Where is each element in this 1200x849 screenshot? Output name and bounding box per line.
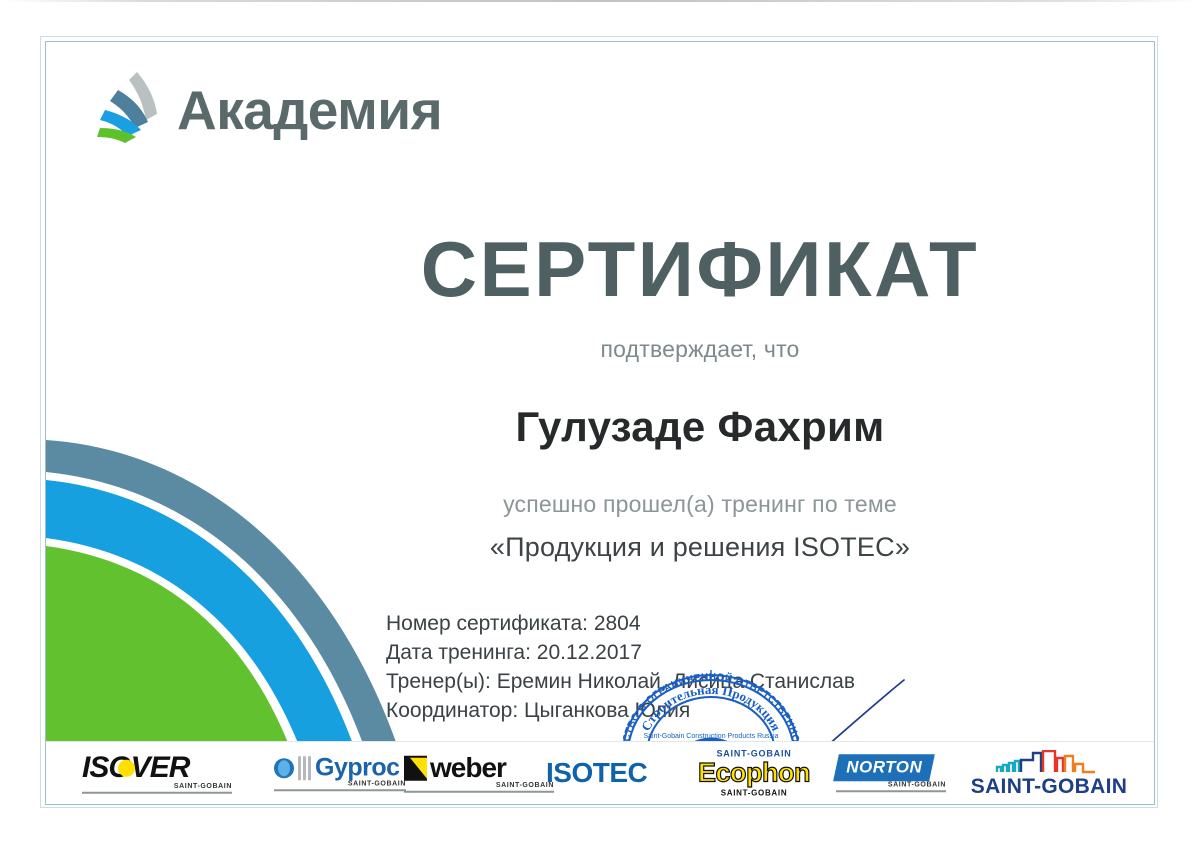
certificate-content: СЕРТИФИКАТ подтверждает, что Гулузаде Фа…	[246, 42, 1154, 563]
footer-logo-strip: ISOVER SAINT-GOBAIN Gyproc SAINT-GOBAIN	[46, 741, 1154, 804]
footer-logo-saint-gobain: SAINT-GOBAIN	[964, 744, 1134, 802]
weber-rule	[404, 791, 554, 793]
weber-saint-gobain-label: SAINT-GOBAIN	[404, 782, 554, 789]
isover-wordmark: ISOVER	[82, 753, 232, 783]
detail-trainers: Тренер(ы): Еремин Николай, Лисица Станис…	[386, 667, 855, 696]
norton-rule	[836, 790, 946, 792]
norton-wordmark: NORTON	[846, 758, 922, 775]
detail-certificate-number: Номер сертификата: 2804	[386, 609, 855, 638]
detail-coordinator: Координатор: Цыганкова Юлия	[386, 696, 855, 725]
passed-training-line: успешно прошел(а) тренинг по теме	[246, 491, 1154, 518]
weber-mark-icon	[404, 755, 427, 780]
footer-logo-weber: weber SAINT-GOBAIN	[404, 754, 554, 793]
gyproc-globe-icon	[274, 758, 294, 778]
recipient-name: Гулузаде Фахрим	[246, 403, 1154, 451]
footer-logo-isotec: ISOTEC	[546, 759, 666, 787]
isover-saint-gobain-label: SAINT-GOBAIN	[82, 783, 232, 790]
confirm-line: подтверждает, что	[246, 336, 1154, 363]
ecophon-wordmark: Ecophon	[684, 760, 824, 787]
certificate-card: Академия СЕРТИФИКАТ подтверждает, что Гу…	[46, 42, 1154, 804]
gyproc-bars-icon	[298, 756, 311, 780]
footer-logo-isover: ISOVER SAINT-GOBAIN	[82, 753, 232, 794]
footer-logo-norton: NORTON SAINT-GOBAIN	[836, 754, 946, 792]
saint-gobain-wordmark: SAINT-GOBAIN	[971, 776, 1127, 797]
ecophon-saint-gobain-label: SAINT-GOBAIN	[684, 789, 824, 798]
norton-plate: NORTON	[833, 754, 935, 781]
academy-chevron-logo-icon	[91, 70, 167, 150]
certificate-page: Академия СЕРТИФИКАТ подтверждает, что Гу…	[0, 0, 1200, 849]
certificate-details: Номер сертификата: 2804 Дата тренинга: 2…	[386, 609, 855, 725]
footer-logo-ecophon: SAINT-GOBAIN Ecophon SAINT-GOBAIN	[684, 749, 824, 798]
norton-saint-gobain-label: SAINT-GOBAIN	[836, 781, 946, 788]
detail-training-date: Дата тренинга: 20.12.2017	[386, 638, 855, 667]
svg-text:Saint-Gobain Construction Prod: Saint-Gobain Construction Products Russi…	[643, 733, 778, 740]
training-subject: «Продукция и решения ISOTEC»	[246, 532, 1154, 563]
isotec-wordmark: ISOTEC	[546, 759, 666, 787]
gyproc-wordmark: Gyproc	[315, 755, 400, 780]
certificate-title: СЕРТИФИКАТ	[246, 230, 1154, 308]
gyproc-rule	[274, 789, 406, 791]
gyproc-saint-gobain-label: SAINT-GOBAIN	[274, 780, 406, 787]
isover-dot-icon	[118, 760, 135, 777]
weber-wordmark: weber	[430, 754, 506, 782]
isover-rule	[82, 792, 232, 794]
saint-gobain-skyline-icon	[989, 750, 1109, 774]
footer-logo-gyproc: Gyproc SAINT-GOBAIN	[274, 755, 406, 791]
scan-edge-line	[0, 0, 1200, 2]
